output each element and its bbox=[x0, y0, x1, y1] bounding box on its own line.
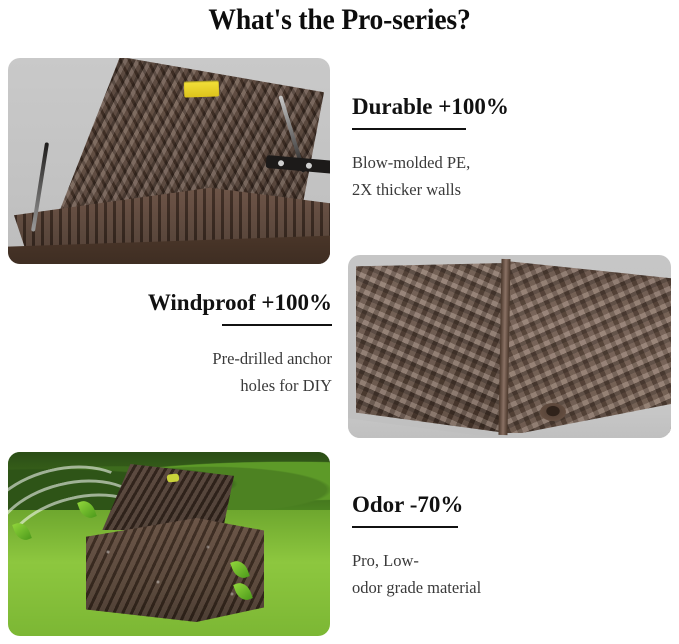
photo-box-on-lawn bbox=[8, 452, 330, 636]
rattan-wall-right bbox=[506, 261, 671, 433]
feature-body-line: 2X thicker walls bbox=[352, 176, 509, 203]
rattan-wall-left bbox=[356, 263, 506, 433]
feature-body-line: holes for DIY bbox=[148, 372, 332, 399]
feature-block-windproof: Windproof +100% Pre-drilled anchor holes… bbox=[148, 288, 332, 399]
headline-underline-windproof bbox=[222, 324, 332, 326]
headline-underline-durable bbox=[352, 128, 466, 130]
page-title: What's the Pro-series? bbox=[27, 0, 652, 40]
yellow-warning-label bbox=[167, 473, 180, 482]
infographic-page: What's the Pro-series? Durable +100% Blo… bbox=[0, 0, 679, 644]
photo-open-deck-box bbox=[8, 58, 330, 264]
feature-body-line: Blow-molded PE, bbox=[352, 149, 509, 176]
feature-body-line: odor grade material bbox=[352, 574, 481, 601]
feature-body-odor: Pro, Low- odor grade material bbox=[352, 547, 481, 601]
feature-block-durable: Durable +100% Blow-molded PE, 2X thicker… bbox=[352, 92, 509, 203]
feature-headline-odor: Odor -70% bbox=[352, 490, 481, 520]
anchor-hole-icon bbox=[540, 403, 566, 421]
headline-underline-odor bbox=[352, 526, 458, 528]
feature-body-windproof: Pre-drilled anchor holes for DIY bbox=[148, 345, 332, 399]
yellow-warning-label bbox=[184, 80, 220, 97]
feature-body-line: Pro, Low- bbox=[352, 547, 481, 574]
feature-headline-durable: Durable +100% bbox=[352, 92, 509, 122]
feature-headline-windproof: Windproof +100% bbox=[148, 288, 332, 318]
feature-body-line: Pre-drilled anchor bbox=[148, 345, 332, 372]
photo-corner-closeup bbox=[348, 255, 671, 438]
feature-body-durable: Blow-molded PE, 2X thicker walls bbox=[352, 149, 509, 203]
feature-block-odor: Odor -70% Pro, Low- odor grade material bbox=[352, 490, 481, 601]
